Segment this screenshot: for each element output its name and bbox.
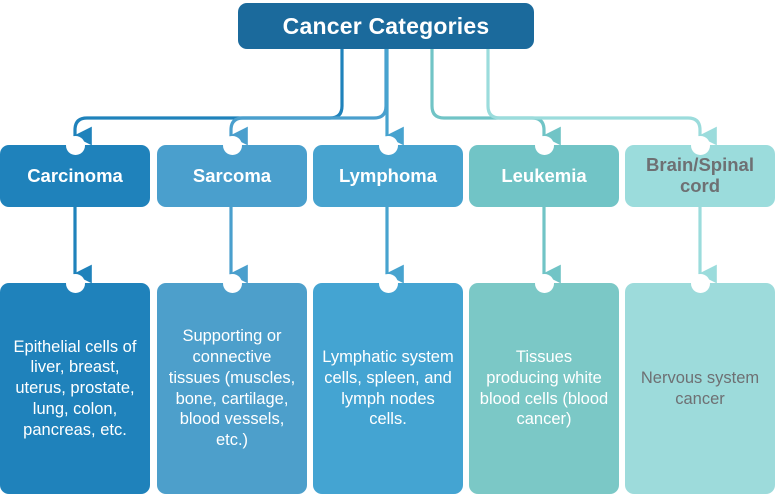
node-description-carcinoma-text: Epithelial cells of liver, breast, uteru…	[9, 337, 141, 441]
node-cancer-categories[interactable]: Cancer Categories	[238, 3, 534, 49]
port-circle-description-lymphoma	[379, 274, 398, 293]
node-description-carcinoma[interactable]: Epithelial cells of liver, breast, uteru…	[0, 283, 150, 494]
node-category-brain-spinal-cord-label: Brain/Spinal cord	[631, 155, 769, 197]
node-category-sarcoma-label: Sarcoma	[193, 166, 271, 187]
node-description-brain-spinal-cord[interactable]: Nervous system cancer	[625, 283, 775, 494]
connector-title-to-sarcoma	[231, 48, 386, 136]
connector-title-to-carcinoma	[75, 48, 342, 136]
node-description-leukemia[interactable]: Tissues producing white blood cells (blo…	[469, 283, 619, 494]
node-description-brain-spinal-cord-text: Nervous system cancer	[634, 368, 766, 410]
port-circle-description-carcinoma	[66, 274, 85, 293]
port-circle-category-carcinoma	[66, 136, 85, 155]
node-cancer-categories-label: Cancer Categories	[283, 13, 490, 40]
port-circle-category-leukemia	[535, 136, 554, 155]
node-description-lymphoma-text: Lymphatic system cells, spleen, and lymp…	[322, 347, 454, 430]
node-category-lymphoma-label: Lymphoma	[339, 166, 437, 187]
port-circle-category-brain-spinal-cord	[691, 136, 710, 155]
connector-title-to-brain-spinal-cord	[488, 48, 700, 136]
port-circle-category-lymphoma	[379, 136, 398, 155]
cancer-categories-diagram: Cancer Categories CarcinomaEpithelial ce…	[0, 0, 779, 499]
port-circle-category-sarcoma	[223, 136, 242, 155]
node-description-leukemia-text: Tissues producing white blood cells (blo…	[478, 347, 610, 430]
node-category-carcinoma-label: Carcinoma	[27, 166, 123, 187]
node-description-sarcoma[interactable]: Supporting or connective tissues (muscle…	[157, 283, 307, 494]
node-description-sarcoma-text: Supporting or connective tissues (muscle…	[166, 326, 298, 451]
port-circle-description-leukemia	[535, 274, 554, 293]
node-description-lymphoma[interactable]: Lymphatic system cells, spleen, and lymp…	[313, 283, 463, 494]
port-circle-description-sarcoma	[223, 274, 242, 293]
connector-title-to-leukemia	[432, 48, 544, 136]
port-circle-description-brain-spinal-cord	[691, 274, 710, 293]
node-category-leukemia-label: Leukemia	[501, 166, 586, 187]
